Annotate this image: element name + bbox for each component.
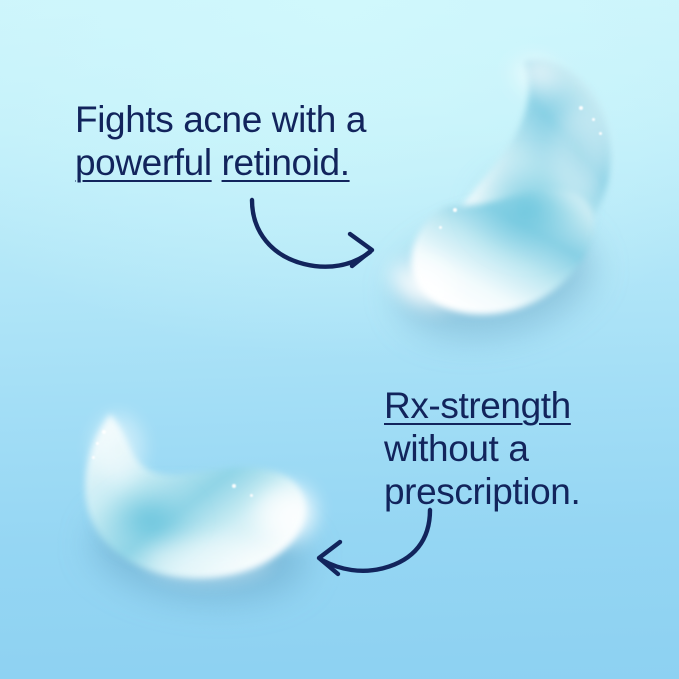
headline-emphasis: Rx-strength xyxy=(384,385,571,426)
swatch-sparkle xyxy=(96,442,99,445)
swatch-shape-icon xyxy=(58,408,320,604)
swatch-blob xyxy=(383,58,615,320)
headline-line: without a xyxy=(384,427,580,470)
headline-line: Rx-strength xyxy=(384,384,580,427)
swatch-shape-icon xyxy=(383,58,615,320)
swatch-sparkle xyxy=(453,208,457,212)
headline-line: powerful retinoid. xyxy=(75,141,366,184)
swatch-sparkle xyxy=(102,430,106,434)
swatch-sparkle xyxy=(250,494,253,497)
headline-emphasis: powerful xyxy=(75,142,212,183)
headline-space xyxy=(212,142,222,183)
callout-retinoid-claim: Fights acne with a powerful retinoid. xyxy=(75,98,366,184)
headline-emphasis: retinoid. xyxy=(222,142,350,183)
headline-line: prescription. xyxy=(384,470,580,513)
headline-line: Fights acne with a xyxy=(75,98,366,141)
cream-swatch-bottom xyxy=(58,408,320,604)
swatch-blob xyxy=(58,408,320,604)
swatch-sparkle xyxy=(592,118,595,121)
cream-swatch-top xyxy=(383,58,615,320)
swatch-sparkle xyxy=(579,106,583,110)
product-benefit-graphic: Fights acne with a powerful retinoid. Rx… xyxy=(0,0,679,679)
swatch-sparkle xyxy=(232,484,236,488)
swatch-sparkle xyxy=(92,456,95,459)
curved-arrow-down-left-icon xyxy=(306,506,446,586)
callout-prescription-claim: Rx-strength without a prescription. xyxy=(384,384,580,513)
swatch-sparkle xyxy=(439,226,442,229)
curved-arrow-down-right-icon xyxy=(246,192,386,282)
swatch-sparkle xyxy=(599,132,602,135)
